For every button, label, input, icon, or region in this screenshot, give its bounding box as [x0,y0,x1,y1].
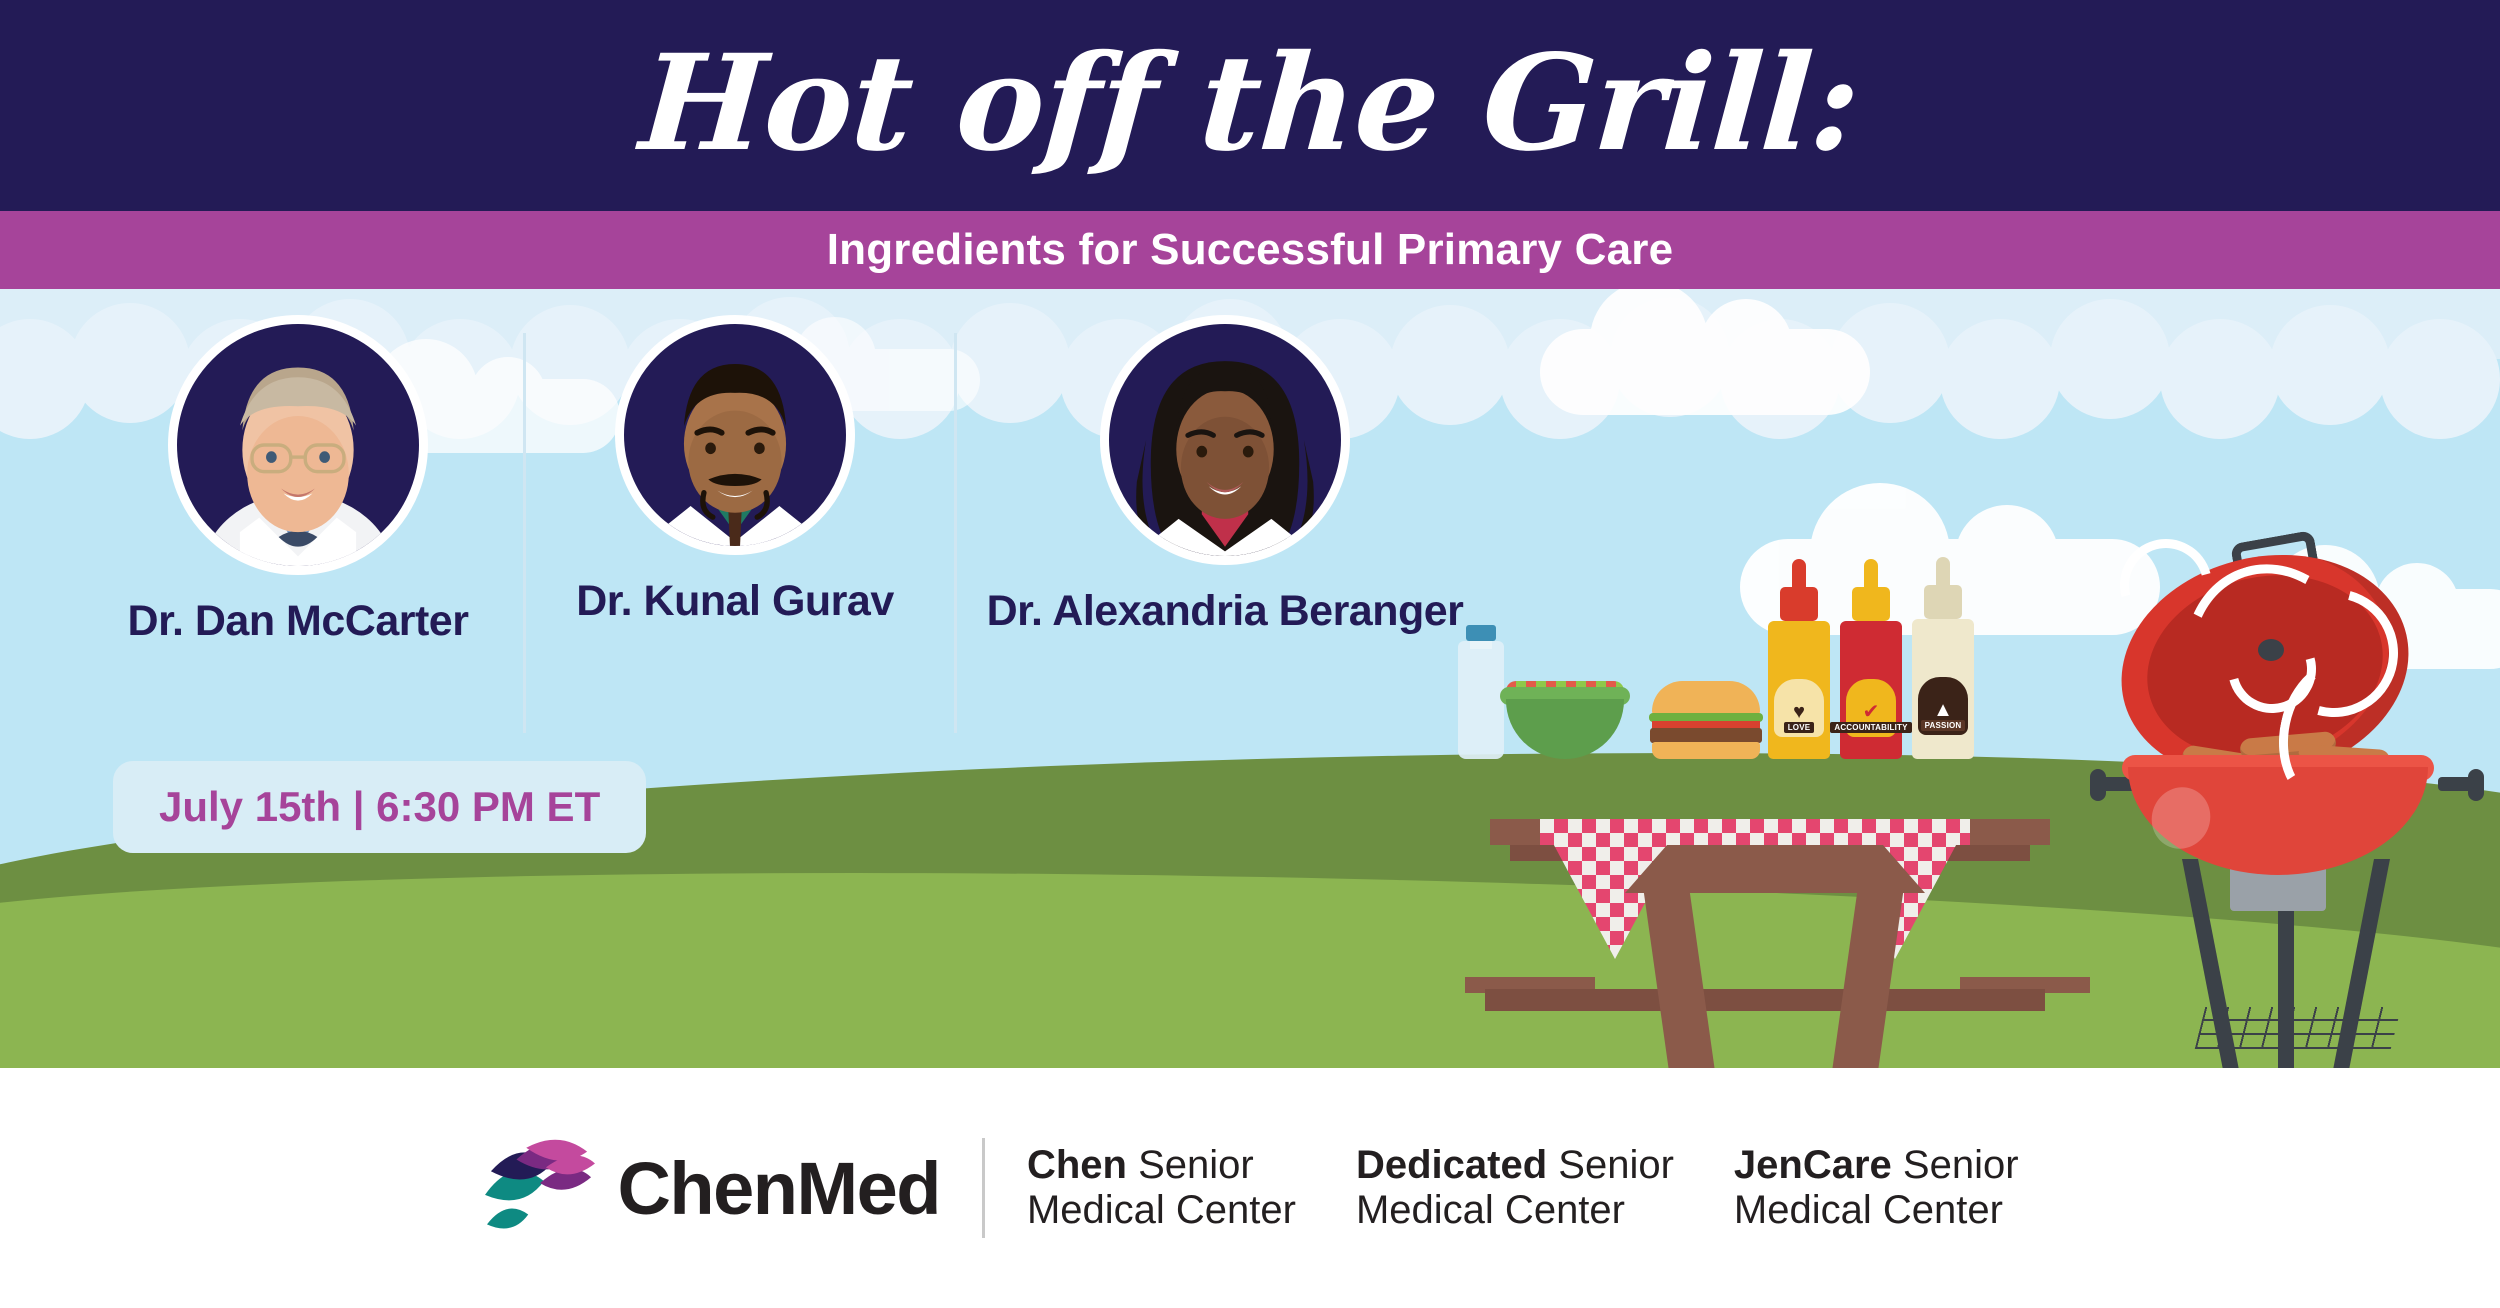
brand-chen: Chen Senior Medical Center [1027,1143,1296,1233]
bottle-label-text: ACCOUNTABILITY [1830,722,1911,733]
table-leg-right [1831,879,1905,1068]
table-leg-left [1642,879,1716,1068]
check-icon: ✔ [1863,702,1880,722]
brand-suffix: Senior [1127,1143,1254,1187]
condiment-bottle-passion: ▲ PASSION [1912,619,1974,759]
subtitle-band: Ingredients for Successful Primary Care [0,211,2500,289]
cloud-decor [1540,329,1870,415]
brand-suffix: Senior [1547,1143,1674,1187]
speaker-card-2: Dr. Alexandria Beranger [975,315,1475,636]
page-subtitle: Ingredients for Successful Primary Care [827,225,1674,275]
brand-line1: JenCare Senior [1734,1143,2019,1188]
brand-name: Chen [1027,1143,1127,1187]
speaker-name: Dr. Alexandria Beranger [975,587,1475,636]
grill-handle-right [2438,777,2474,791]
condiment-bottle-love: ♥ LOVE [1768,621,1830,759]
bottle-label-text: LOVE [1784,722,1815,733]
speaker-name: Dr. Kunal Gurav [545,577,925,626]
bottle-tip [1864,559,1878,589]
bbq-grill-icon [2090,529,2490,1068]
event-datetime-badge: July 15th | 6:30 PM ET [113,761,646,853]
logo-divider [982,1138,985,1238]
brand-jencare: JenCare Senior Medical Center [1734,1143,2019,1233]
bottle-tip [1792,559,1806,589]
headshot-kunal-gurav [624,324,846,546]
bottle-label-passion: ▲ PASSION [1918,677,1968,735]
chenmed-wordmark: ChenMed [617,1146,940,1231]
brand-line2: Medical Center [1356,1188,1674,1233]
footer-logos: ChenMed Chen Senior Medical Center Dedic… [0,1068,2500,1308]
bottle-cap [1924,585,1962,619]
burger-bun-top [1652,681,1760,715]
speaker-divider [523,333,526,733]
avatar [168,315,428,575]
bottle-cap [1780,587,1818,621]
brand-line1: Dedicated Senior [1356,1143,1674,1188]
promo-banner: Hot off the Grill: Ingredients for Succe… [0,0,2500,1308]
speaker-group: Dr. Dan McCarter [0,289,1560,849]
brand-dedicated: Dedicated Senior Medical Center [1356,1143,1674,1233]
bottle-label-text: PASSION [1921,720,1966,731]
avatar [1100,315,1350,565]
bottle-label-accountability: ✔ ACCOUNTABILITY [1846,679,1896,737]
bottle-tip [1936,557,1950,587]
burger-icon [1652,681,1760,759]
bench-seat [1485,989,2045,1011]
brand-name: Dedicated [1356,1143,1547,1187]
avatar [615,315,855,555]
chenmed-logo: ChenMed [481,1134,940,1242]
speaker-card-0: Dr. Dan McCarter [108,315,488,646]
burger-bun-bottom [1652,742,1760,759]
event-datetime-text: July 15th | 6:30 PM ET [159,783,600,830]
condiment-bottle-accountability: ✔ ACCOUNTABILITY [1840,621,1902,759]
speaker-card-1: Dr. Kunal Gurav [545,315,925,626]
brand-line2: Medical Center [1734,1188,2019,1233]
speaker-name: Dr. Dan McCarter [108,597,488,646]
brand-name: JenCare [1734,1143,1892,1187]
bottle-label-love: ♥ LOVE [1774,679,1824,737]
page-title: Hot off the Grill: [0,0,2500,211]
flame-icon: ▲ [1933,700,1953,720]
bottle-cap [1852,587,1890,621]
brand-list: Chen Senior Medical Center Dedicated Sen… [1027,1143,2019,1233]
brand-suffix: Senior [1892,1143,2019,1187]
heart-icon: ♥ [1793,702,1805,722]
headshot-dan-mccarter [177,324,419,566]
headshot-alexandria-beranger [1109,324,1341,556]
chenmed-swoosh-icon [481,1134,599,1242]
illustration-scene: ♥ LOVE ✔ ACCOUNTABILITY ▲ [0,289,2500,1068]
brand-line2: Medical Center [1027,1188,1296,1233]
burger-patty [1650,728,1762,743]
speaker-divider [954,333,957,733]
brand-line1: Chen Senior [1027,1143,1296,1188]
